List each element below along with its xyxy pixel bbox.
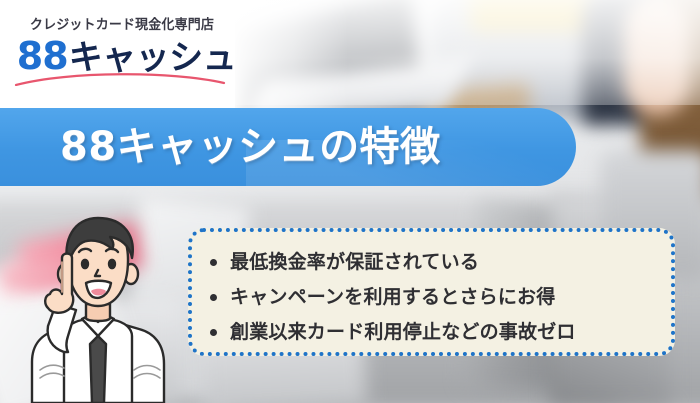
logo-wordmark: 88キャッシュ <box>14 37 239 75</box>
bullet-dot-icon <box>210 259 217 266</box>
promo-banner: クレジットカード現金化専門店 88キャッシュ 88キャッシュの特徴 最低換金率が… <box>0 0 700 403</box>
page-title: 88キャッシュの特徴 <box>60 118 441 176</box>
mascot-illustration <box>2 212 194 403</box>
feature-text: 創業以来カード利用停止などの事故ゼロ <box>230 315 576 350</box>
list-item: 最低換金率が保証されている <box>210 245 671 280</box>
features-card: 最低換金率が保証されている キャンペーンを利用するとさらにお得 創業以来カード利… <box>188 228 675 356</box>
bullet-dot-icon <box>210 294 217 301</box>
list-item: キャンペーンを利用するとさらにお得 <box>210 280 671 315</box>
bullet-dot-icon <box>210 329 217 336</box>
site-logo[interactable]: クレジットカード現金化専門店 88キャッシュ <box>14 18 239 86</box>
logo-swoosh-icon <box>14 72 239 86</box>
list-item: 創業以来カード利用停止などの事故ゼロ <box>210 315 671 350</box>
logo-tagline: クレジットカード現金化専門店 <box>14 18 230 32</box>
features-list: 最低換金率が保証されている キャンペーンを利用するとさらにお得 創業以来カード利… <box>192 232 671 350</box>
feature-text: 最低換金率が保証されている <box>230 245 479 280</box>
feature-text: キャンペーンを利用するとさらにお得 <box>230 280 555 315</box>
